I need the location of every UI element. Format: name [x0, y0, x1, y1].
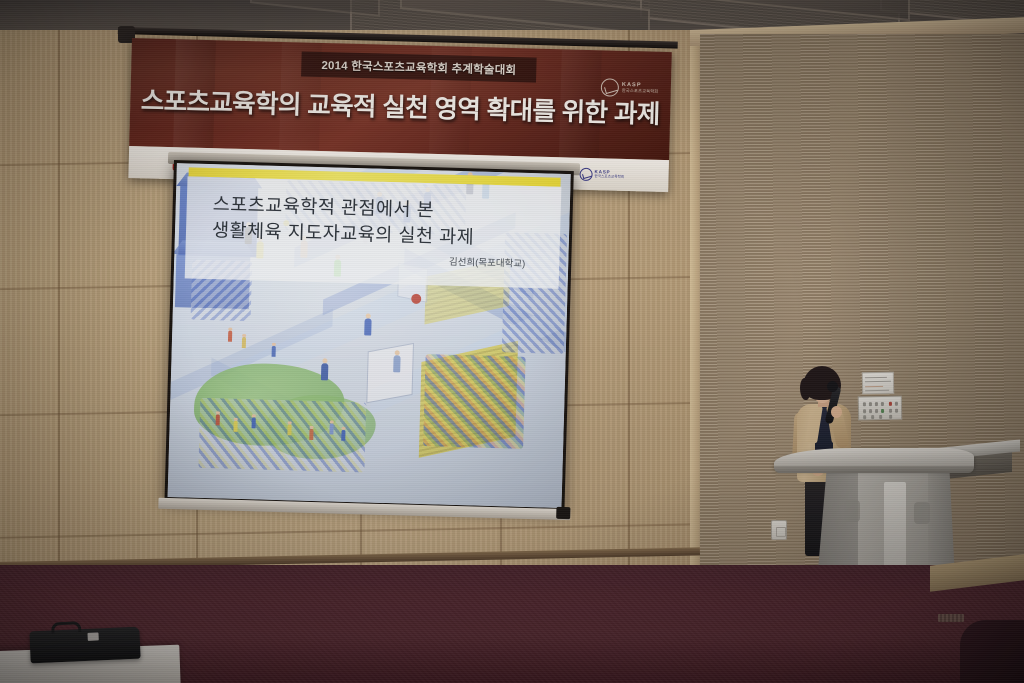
- kasp-logo: KASP 한국스포츠교육학회: [600, 72, 663, 104]
- banner-title: 스포츠교육학의 교육적 실천 영역 확대를 위한 과제: [140, 80, 660, 131]
- floor-vent: [938, 614, 964, 622]
- bag-handle: [51, 621, 81, 633]
- podium-speaker-grille: [844, 500, 860, 522]
- kasp-strip-logo-mark-icon: [579, 167, 592, 180]
- foreground-bag: [29, 627, 140, 664]
- kasp-korean-name: 한국스포츠교육학회: [622, 88, 659, 93]
- kasp-strip-korean: 한국스포츠교육학회: [594, 175, 624, 179]
- conference-photo: 2014 한국스포츠교육학회 추계학술대회 스포츠교육학의 교육적 실천 영역 …: [0, 0, 1024, 683]
- panel-seam: [58, 30, 60, 630]
- podium-top-edge: [774, 466, 974, 473]
- kasp-strip-logo: KASP 한국스포츠교육학회: [579, 167, 624, 181]
- speaker-mic-hand: [831, 406, 842, 418]
- wall-power-outlet: [771, 520, 787, 540]
- microphone-head-icon: [827, 381, 838, 392]
- banner-subtitle: 2014 한국스포츠교육학회 추계학술대회: [321, 56, 516, 77]
- projection-screen: 스포츠교육학적 관점에서 본 생활체육 지도자교육의 실천 과제 김선희(목포대…: [164, 160, 574, 531]
- av-control-panel[interactable]: [858, 396, 902, 421]
- screen-weight-bar: [556, 507, 570, 519]
- screen-frame: 스포츠교육학적 관점에서 본 생활체육 지도자교육의 실천 과제 김선희(목포대…: [165, 160, 574, 511]
- ceiling-panel: [250, 0, 380, 17]
- kasp-logo-mark-icon: [601, 78, 619, 96]
- projected-slide: 스포츠교육학적 관점에서 본 생활체육 지도자교육의 실천 과제 김선희(목포대…: [168, 163, 571, 508]
- bag-tag: [87, 632, 98, 640]
- banner-background: 2014 한국스포츠교육학회 추계학술대회 스포츠교육학의 교육적 실천 영역 …: [129, 38, 672, 160]
- slide-presenter: 김선희(목포대학교): [449, 253, 526, 269]
- podium-speaker-grille: [914, 502, 930, 524]
- slide-title-box: 스포츠교육학적 관점에서 본 생활체육 지도자교육의 실천 과제 김선희(목포대…: [185, 176, 562, 288]
- podium-control-plate[interactable]: [884, 482, 906, 572]
- floor-shadow-corner: [960, 620, 1024, 683]
- wall-notice: [862, 372, 894, 395]
